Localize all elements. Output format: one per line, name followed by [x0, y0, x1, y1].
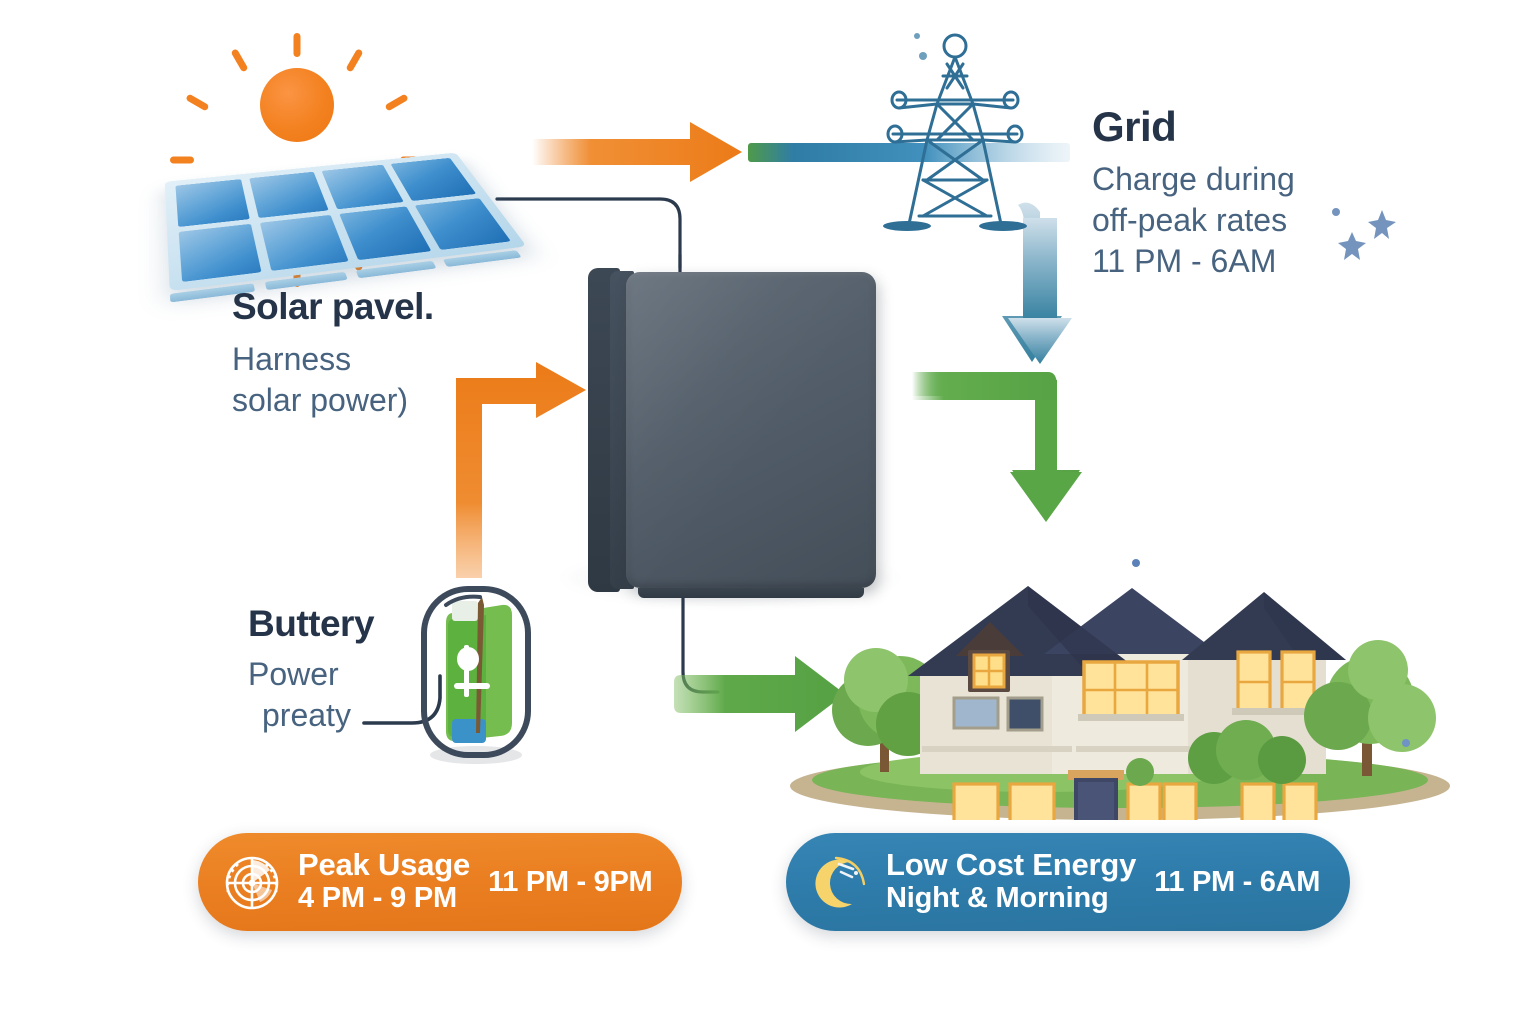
grid-sub-line1: Charge during: [1092, 159, 1472, 200]
solar-sub-line1: Harness: [232, 339, 562, 380]
solar-label-block: Solar pavel. Harness solar power): [232, 288, 562, 421]
sparkle-stars-icon: [1330, 200, 1420, 270]
grid-heading: Grid: [1092, 105, 1472, 149]
peak-usage-title: Peak Usage: [298, 849, 470, 882]
sun-core: [260, 68, 334, 142]
solar-cell: [175, 179, 250, 227]
solar-cell: [179, 224, 262, 282]
peak-usage-time: 11 PM - 9PM: [488, 866, 652, 899]
speck-icon: [1130, 555, 1150, 575]
solar-sub-line2: solar power): [232, 380, 562, 421]
solar-heading: Solar pavel.: [232, 288, 562, 327]
peak-usage-badge[interactable]: Peak Usage 4 PM - 9 PM 11 PM - 9PM: [198, 833, 682, 931]
arrow-inverter-to-house-top: [912, 372, 1082, 522]
peak-usage-hours: 4 PM - 9 PM: [298, 882, 470, 914]
infographic-canvas: Solar pavel. Harness solar power) Butter…: [0, 0, 1536, 1024]
arrow-solar-to-grid: [532, 122, 742, 182]
low-cost-energy-badge[interactable]: Low Cost Energy Night & Morning 11 PM - …: [786, 833, 1350, 931]
house-icon: [790, 540, 1460, 820]
low-cost-subtitle: Night & Morning: [886, 882, 1136, 914]
low-cost-time: 11 PM - 6AM: [1154, 866, 1320, 899]
solar-cell: [339, 206, 432, 260]
radar-gauge-icon: [220, 850, 284, 914]
solar-cell: [414, 198, 511, 250]
sun-icon: [260, 68, 334, 142]
low-cost-title: Low Cost Energy: [886, 849, 1136, 882]
wire-solar-to-inverter: [497, 199, 680, 268]
battery-icon: [416, 583, 536, 767]
transmission-tower-icon: [875, 28, 1035, 249]
solar-cell: [250, 172, 329, 218]
moon-icon: [808, 850, 872, 914]
speck-icon: [1400, 735, 1420, 755]
solar-cell: [260, 215, 348, 271]
solar-cell: [321, 165, 403, 209]
solar-cell: [390, 158, 476, 201]
